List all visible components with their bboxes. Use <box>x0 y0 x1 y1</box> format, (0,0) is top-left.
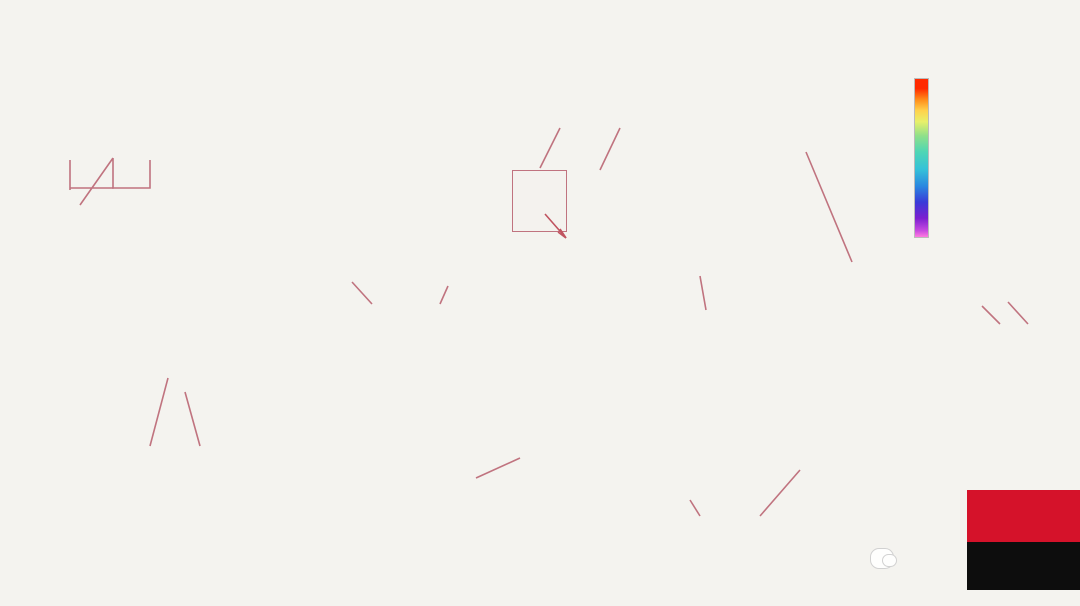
wechat-watermark <box>870 548 900 569</box>
slide-canvas <box>0 0 1080 606</box>
economist-logo-red <box>967 490 1080 542</box>
economist-logo <box>967 490 1080 590</box>
ukraine-shock-badge <box>512 170 567 232</box>
colorbar <box>914 78 929 238</box>
economist-logo-chinese <box>967 542 1080 590</box>
wechat-icon <box>870 548 894 569</box>
